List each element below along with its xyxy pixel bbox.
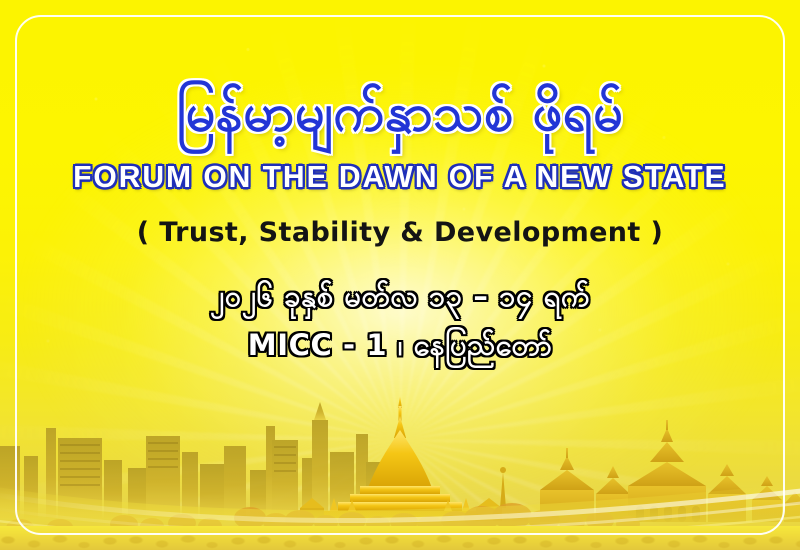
event-date: ၂၀၂၆ ခုနှစ် မတ်လ ၁၃ – ၁၄ ရက် bbox=[210, 278, 590, 321]
title-english: FORUM ON THE DAWN OF A NEW STATE bbox=[73, 159, 726, 195]
cobblestone-texture bbox=[0, 526, 800, 550]
cobblestone-strip bbox=[0, 526, 800, 550]
title-burmese: မြန်မာ့မျက်နှာသစ် ဖိုရမ် bbox=[177, 86, 623, 141]
event-venue: MICC - 1 ၊ နေပြည်တော် bbox=[248, 327, 553, 370]
tagline: ( Trust, Stability & Development ) bbox=[137, 217, 664, 248]
minaret bbox=[500, 467, 506, 508]
event-poster: မြန်မာ့မျက်နှာသစ် ဖိုရမ် FORUM ON THE DA… bbox=[0, 0, 800, 550]
